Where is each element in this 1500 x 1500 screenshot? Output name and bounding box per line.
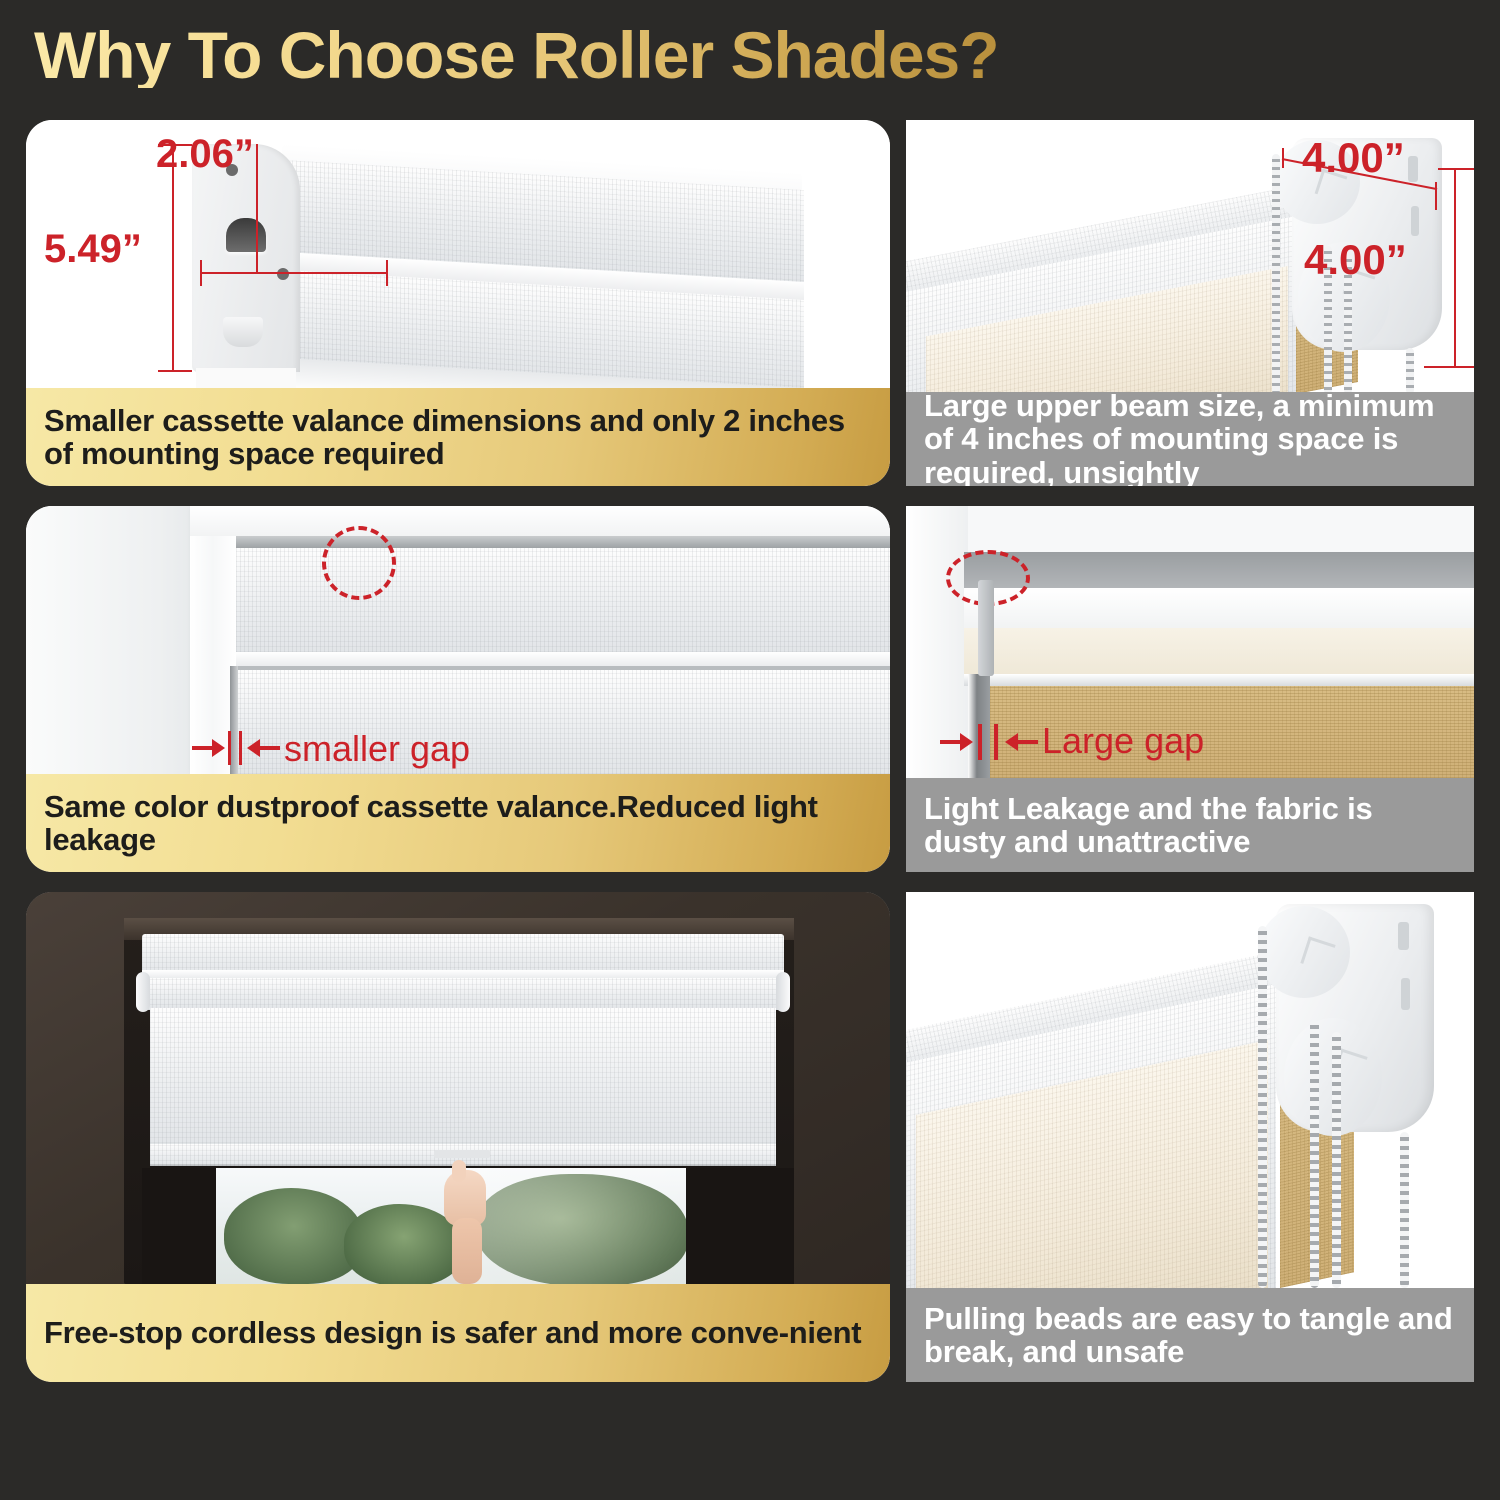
end-cap-foot bbox=[196, 368, 296, 388]
gap-arrow-right-icon bbox=[1004, 732, 1038, 752]
bead-chain-1 bbox=[1272, 154, 1280, 392]
cassette-valance-photo: 2.06” 5.49” bbox=[26, 120, 890, 388]
large-gap-label: Large gap bbox=[1042, 720, 1204, 762]
beam-height-tick-top bbox=[1438, 168, 1474, 170]
beam-height-tick-bottom bbox=[1424, 366, 1474, 368]
panel-large-upper-beam: 4.00” 4.00” Large upper beam size, a min… bbox=[906, 120, 1474, 486]
pulling-beads-photo bbox=[906, 892, 1474, 1288]
panel-cassette-dimensions: 2.06” 5.49” Smaller cassette valance dim… bbox=[26, 120, 890, 486]
caption-text: Large upper beam size, a minimum of 4 in… bbox=[924, 389, 1456, 486]
shade-upper-fold bbox=[144, 978, 782, 1010]
shade-left-edge bbox=[230, 666, 238, 774]
hand-reaching-up bbox=[438, 1160, 492, 1284]
height-dim-tick-bottom bbox=[158, 370, 192, 372]
caption-text: Light Leakage and the fabric is dusty an… bbox=[924, 792, 1456, 859]
caption-free-stop-cordless: Free-stop cordless design is safer and m… bbox=[26, 1284, 890, 1382]
gap-marker-line-a bbox=[228, 731, 231, 765]
shade-roller-endcap-right bbox=[776, 972, 790, 1012]
gap-marker-line-b bbox=[239, 731, 242, 765]
caption-cassette-dimensions: Smaller cassette valance dimensions and … bbox=[26, 388, 890, 486]
bead-chain-3 bbox=[1332, 1032, 1341, 1288]
tree-left bbox=[224, 1188, 364, 1284]
bead-chain-2 bbox=[1310, 1020, 1319, 1288]
panel-pulling-beads-unsafe: Pulling beads are easy to tangle and bre… bbox=[906, 892, 1474, 1382]
beam-height-label: 4.00” bbox=[1304, 236, 1407, 284]
shade-main-fabric bbox=[150, 1008, 776, 1148]
gap-marker-line-a bbox=[978, 724, 982, 760]
shade-pull-tab bbox=[434, 1150, 490, 1158]
dustproof-valance-photo: smaller gap bbox=[26, 506, 890, 774]
bead-chain-4 bbox=[1400, 1132, 1409, 1288]
end-cap-bracket-bottom bbox=[223, 317, 263, 347]
valance-bottom-rail bbox=[964, 674, 1474, 686]
cordless-window-photo bbox=[26, 892, 890, 1284]
caption-text: Smaller cassette valance dimensions and … bbox=[44, 404, 872, 471]
caption-text: Free-stop cordless design is safer and m… bbox=[44, 1316, 861, 1349]
light-leakage-photo: Large gap bbox=[906, 506, 1474, 778]
bead-chain-4 bbox=[1406, 348, 1414, 392]
height-dimension-label: 5.49” bbox=[44, 227, 142, 272]
bracket-slot-2 bbox=[1411, 206, 1419, 236]
large-beam-photo: 4.00” 4.00” bbox=[906, 120, 1474, 392]
title-bar: Why To Choose Roller Shades? bbox=[0, 0, 1500, 112]
end-cap-slot bbox=[226, 218, 266, 252]
width-dim-leader-top bbox=[256, 144, 258, 272]
gap-marker-line-b bbox=[994, 724, 998, 760]
page-title: Why To Choose Roller Shades? bbox=[34, 22, 999, 88]
panel-free-stop-cordless: Free-stop cordless design is safer and m… bbox=[26, 892, 890, 1382]
bracket-slot-1 bbox=[1408, 156, 1418, 182]
window-frame-outer bbox=[26, 506, 216, 774]
glass-reflection bbox=[464, 1168, 688, 1284]
caption-large-upper-beam: Large upper beam size, a minimum of 4 in… bbox=[906, 392, 1474, 486]
hand-forearm bbox=[452, 1218, 482, 1284]
width-dim-tick-right bbox=[386, 260, 388, 286]
gap-arrow-left-icon bbox=[192, 738, 226, 758]
shade-roller-endcap-left bbox=[136, 972, 150, 1012]
gap-arrow-right-icon bbox=[246, 738, 280, 758]
panel-light-leakage-dusty: Large gap Light Leakage and the fabric i… bbox=[906, 506, 1474, 872]
beam-height-line bbox=[1454, 168, 1456, 368]
gap-arrow-left-icon bbox=[940, 732, 974, 752]
caption-light-leakage: Light Leakage and the fabric is dusty an… bbox=[906, 778, 1474, 872]
beam-width-label: 4.00” bbox=[1302, 134, 1405, 182]
beam-width-tick-right bbox=[1435, 182, 1437, 210]
valance-cream-band bbox=[964, 628, 1474, 676]
hand-finger bbox=[452, 1160, 466, 1182]
bracket-slot-2 bbox=[1401, 978, 1410, 1010]
window-jamb-left bbox=[142, 1168, 216, 1284]
caption-text: Pulling beads are easy to tangle and bre… bbox=[924, 1302, 1456, 1369]
height-dim-line bbox=[172, 144, 174, 372]
height-dim-tick-top bbox=[158, 144, 192, 146]
highlight-dashed-circle bbox=[322, 526, 396, 600]
caption-pulling-beads: Pulling beads are easy to tangle and bre… bbox=[906, 1288, 1474, 1382]
end-cap-screw-mid bbox=[277, 268, 289, 280]
caption-dustproof-valance: Same color dustproof cassette valance.Re… bbox=[26, 774, 890, 872]
smaller-gap-label: smaller gap bbox=[284, 728, 470, 770]
bead-chain-1 bbox=[1258, 926, 1267, 1288]
caption-text: Same color dustproof cassette valance.Re… bbox=[44, 790, 872, 857]
window-frame-top-rail bbox=[190, 506, 890, 536]
window-jamb-right bbox=[686, 1168, 794, 1284]
width-dim-line bbox=[200, 272, 388, 274]
panel-dustproof-cassette-valance: smaller gap Same color dustproof cassett… bbox=[26, 506, 890, 872]
width-dimension-label: 2.06” bbox=[156, 132, 254, 177]
bracket-clip-detail bbox=[978, 580, 994, 676]
bracket-slot-1 bbox=[1398, 922, 1409, 950]
